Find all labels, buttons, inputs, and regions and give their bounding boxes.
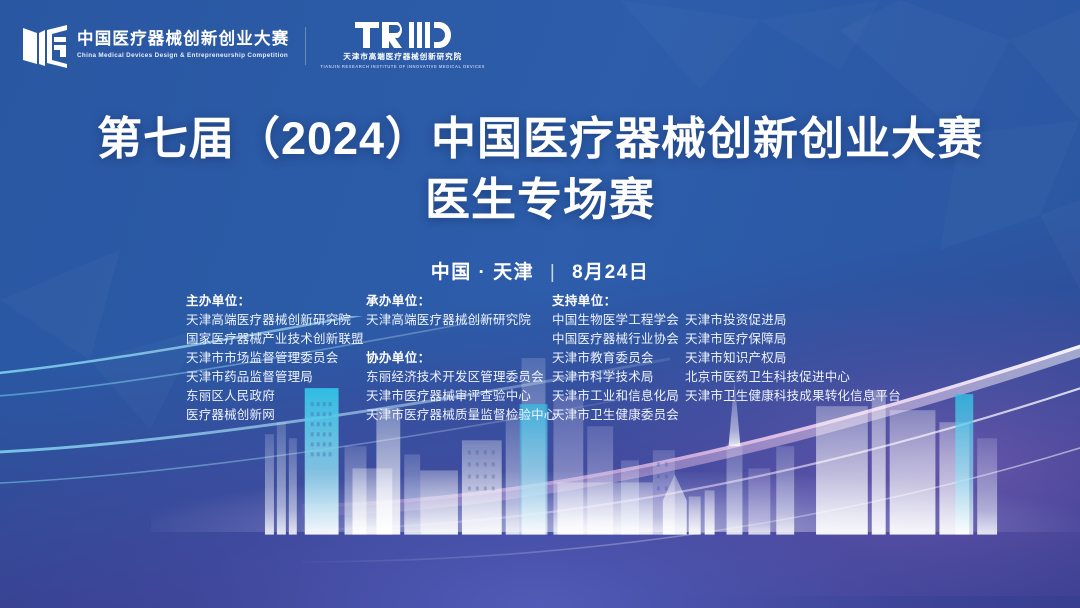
title-line-2: 医生专场赛 (0, 173, 1080, 226)
host-coorganizer-column: 承办单位： 天津高端医疗器械创新研究院 协办单位： 东丽经济技术开发区管理委员会… (366, 292, 552, 425)
organizer-column: 主办单位： 天津高端医疗器械创新研究院 国家医疗器械产业技术创新联盟 天津市市场… (186, 292, 366, 425)
triid-wordmark-icon (355, 22, 451, 49)
list-item: 天津市知识产权局 (685, 349, 905, 368)
supporter-heading: 支持单位： (552, 292, 685, 311)
list-item: 中国生物医学工程学会 (552, 311, 685, 330)
list-item: 天津高端医疗器械创新研究院 (366, 311, 552, 330)
list-item: 医疗器械创新网 (186, 406, 366, 425)
list-item: 天津市市场监督管理委员会 (186, 349, 366, 368)
list-item: 天津市工业和信息化局 (552, 387, 685, 406)
institute-name-cn: 天津市高端医疗器械创新研究院 (343, 52, 462, 62)
list-item: 中国医疗器械行业协会 (552, 330, 685, 349)
page-title: 第七届（2024）中国医疗器械创新创业大赛 医生专场赛 (0, 112, 1080, 226)
event-poster: 中国医疗器械创新创业大赛 China Medical Devices Desig… (0, 0, 1080, 608)
list-item: 天津市医疗器械审评查验中心 (366, 387, 552, 406)
competition-name-cn: 中国医疗器械创新创业大赛 (77, 30, 289, 49)
list-item: 天津市科学技术局 (552, 368, 685, 387)
institute-name-en: TIANJIN RESEARCH INSTITUTE OF INNOVATIVE… (320, 64, 485, 69)
event-location: 中国 · 天津 (431, 262, 534, 283)
list-item: 天津高端医疗器械创新研究院 (186, 311, 366, 330)
supporter-column-a: 支持单位： 中国生物医学工程学会 中国医疗器械行业协会 天津市教育委员会 天津市… (552, 292, 685, 425)
list-item: 天津市投资促进局 (685, 311, 905, 330)
list-item: 天津市教育委员会 (552, 349, 685, 368)
host-heading: 承办单位： (366, 292, 552, 311)
list-item: 天津市卫生健康委员会 (552, 406, 685, 425)
institute-logo[interactable]: 天津市高端医疗器械创新研究院 TIANJIN RESEARCH INSTITUT… (320, 22, 485, 69)
coorganizer-heading: 协办单位： (366, 349, 552, 368)
column-spacer (685, 292, 905, 311)
supporter-column-b: 天津市投资促进局 天津市医疗保障局 天津市知识产权局 北京市医药卫生科技促进中心… (685, 292, 905, 406)
organizer-heading: 主办单位： (186, 292, 366, 311)
open-door-logo-icon (22, 24, 68, 68)
horizon-haze (151, 472, 1080, 532)
competition-logo[interactable]: 中国医疗器械创新创业大赛 China Medical Devices Desig… (22, 24, 305, 68)
list-item: 北京市医药卫生科技促进中心 (685, 368, 905, 387)
event-date: 8月24日 (572, 262, 649, 283)
event-location-date: 中国 · 天津 | 8月24日 (0, 257, 1080, 284)
subtitle-separator: | (550, 262, 556, 284)
column-spacer (366, 330, 552, 349)
title-line-1: 第七届（2024）中国医疗器械创新创业大赛 (0, 112, 1080, 165)
list-item: 东丽区人民政府 (186, 387, 366, 406)
header-logos: 中国医疗器械创新创业大赛 China Medical Devices Desig… (22, 22, 485, 69)
organizations-block: 主办单位： 天津高端医疗器械创新研究院 国家医疗器械产业技术创新联盟 天津市市场… (186, 292, 905, 425)
list-item: 东丽经济技术开发区管理委员会 (366, 368, 552, 387)
list-item: 国家医疗器械产业技术创新联盟 (186, 330, 366, 349)
list-item: 天津市药品监督管理局 (186, 368, 366, 387)
logo-divider (305, 27, 306, 65)
competition-logo-text: 中国医疗器械创新创业大赛 China Medical Devices Desig… (77, 30, 289, 61)
competition-name-en: China Medical Devices Design & Entrepren… (77, 52, 294, 61)
list-item: 天津市医疗保障局 (685, 330, 905, 349)
list-item: 天津市卫生健康科技成果转化信息平台 (685, 387, 905, 406)
list-item: 天津市医疗器械质量监督检验中心 (366, 406, 552, 425)
